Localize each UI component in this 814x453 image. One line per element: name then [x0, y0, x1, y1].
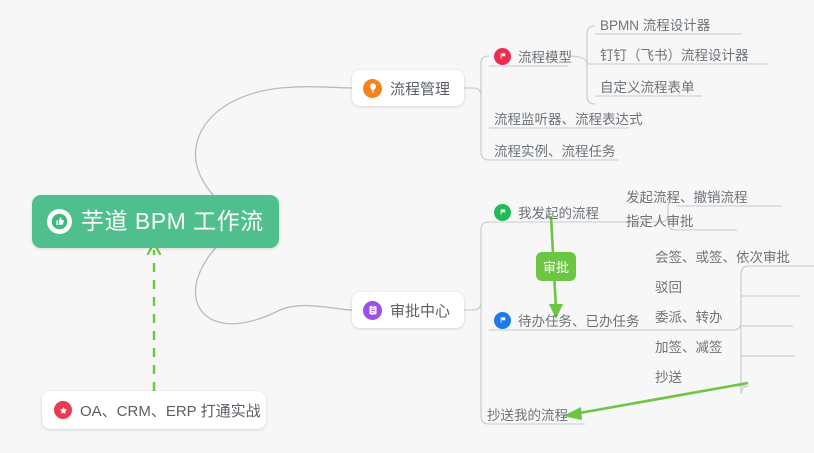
node-countersign[interactable]: 会签、或签、依次审批 [655, 246, 790, 266]
node-label: 会签、或签、依次审批 [655, 246, 790, 266]
root-label: 芋道 BPM 工作流 [81, 210, 264, 233]
flag-icon [494, 312, 511, 329]
lightbulb-icon [363, 79, 382, 98]
node-approval-center[interactable]: 审批中心 [352, 292, 464, 328]
node-dingtalk-designer[interactable]: 钉钉（飞书）流程设计器 [600, 44, 749, 64]
thumbs-up-icon [47, 209, 72, 234]
node-reject[interactable]: 驳回 [655, 276, 682, 296]
node-cc-to-me[interactable]: 抄送我的流程 [487, 404, 568, 424]
node-process-model[interactable]: 流程模型 [494, 46, 572, 66]
note-to-root-arrow [148, 243, 160, 391]
node-label: 待办任务、已办任务 [518, 310, 640, 330]
clipboard-icon [363, 301, 382, 320]
flag-icon [494, 48, 511, 65]
node-label: 抄送 [655, 366, 682, 386]
node-label: 审批中心 [390, 300, 450, 321]
node-label: 发起流程、撤销流程 [626, 186, 748, 206]
node-label: BPMN 流程设计器 [600, 14, 710, 34]
node-assignee-approval[interactable]: 指定人审批 [626, 210, 694, 230]
cc-link-arrow [563, 383, 748, 420]
node-label: 流程管理 [390, 78, 450, 99]
flag-icon [494, 204, 511, 221]
node-integration-note[interactable]: OA、CRM、ERP 打通实战 [42, 391, 266, 429]
node-label: 加签、减签 [655, 336, 723, 356]
node-add-remove-sign[interactable]: 加签、减签 [655, 336, 723, 356]
star-icon [54, 401, 72, 419]
node-label: 钉钉（飞书）流程设计器 [600, 44, 749, 64]
node-my-started-process[interactable]: 我发起的流程 [494, 202, 599, 222]
node-custom-form[interactable]: 自定义流程表单 [600, 76, 695, 96]
node-bpmn-designer[interactable]: BPMN 流程设计器 [600, 14, 710, 34]
node-label: 流程模型 [518, 46, 572, 66]
node-delegate-transfer[interactable]: 委派、转办 [655, 306, 723, 326]
node-label: 我发起的流程 [518, 202, 599, 222]
node-label: 指定人审批 [626, 210, 694, 230]
node-label: 流程实例、流程任务 [494, 140, 616, 160]
node-todo-done-tasks[interactable]: 待办任务、已办任务 [494, 310, 640, 330]
node-process-management[interactable]: 流程管理 [352, 70, 464, 106]
annotation-approve-tag: 审批 [536, 252, 576, 281]
node-label: 抄送我的流程 [487, 404, 568, 424]
node-label: 驳回 [655, 276, 682, 296]
annotation-label: 审批 [543, 257, 569, 276]
node-label: 流程监听器、流程表达式 [494, 108, 643, 128]
mindmap-canvas: 芋道 BPM 工作流 流程管理 审批中心 [0, 0, 814, 453]
node-label: 委派、转办 [655, 306, 723, 326]
node-cc[interactable]: 抄送 [655, 366, 682, 386]
root-node[interactable]: 芋道 BPM 工作流 [32, 195, 279, 248]
node-label: 自定义流程表单 [600, 76, 695, 96]
node-process-listener[interactable]: 流程监听器、流程表达式 [494, 108, 643, 128]
note-label: OA、CRM、ERP 打通实战 [80, 400, 261, 421]
node-process-instance[interactable]: 流程实例、流程任务 [494, 140, 616, 160]
node-start-cancel-process[interactable]: 发起流程、撤销流程 [626, 186, 748, 206]
